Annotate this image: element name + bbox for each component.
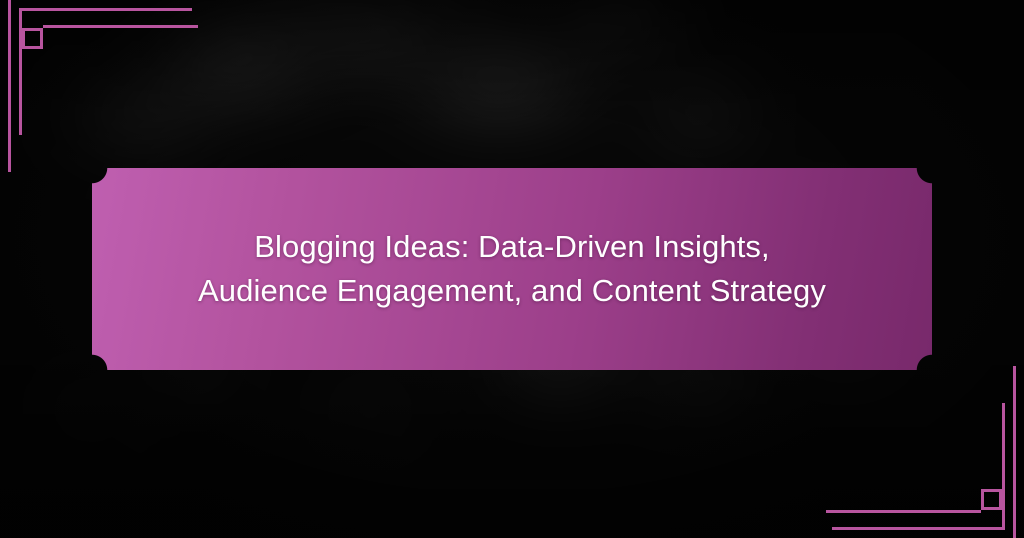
ornament-square-icon <box>22 28 43 49</box>
ornament-horizontal-outer-line <box>832 527 992 530</box>
ornament-horizontal-outer-line <box>32 8 192 11</box>
page-title-line-1: Blogging Ideas: Data-Driven Insights, <box>198 225 826 269</box>
corner-ornament-bottom-right <box>839 353 1024 538</box>
ornament-horizontal-inner-line <box>826 510 981 513</box>
title-card: Blogging Ideas: Data-Driven Insights, Au… <box>0 0 1024 538</box>
ornament-connector-line <box>19 8 35 11</box>
ornament-square-icon <box>981 489 1002 510</box>
ornament-vertical-outer-line <box>1013 366 1016 538</box>
ornament-connector-line <box>989 527 1005 530</box>
ornament-vertical-outer-line <box>8 0 11 172</box>
page-title: Blogging Ideas: Data-Driven Insights, Au… <box>198 225 826 313</box>
title-banner: Blogging Ideas: Data-Driven Insights, Au… <box>92 168 932 370</box>
page-title-line-2: Audience Engagement, and Content Strateg… <box>198 269 826 313</box>
ornament-horizontal-inner-line <box>43 25 198 28</box>
ornament-vertical-inner-line <box>1002 403 1005 528</box>
corner-ornament-top-left <box>0 0 185 185</box>
